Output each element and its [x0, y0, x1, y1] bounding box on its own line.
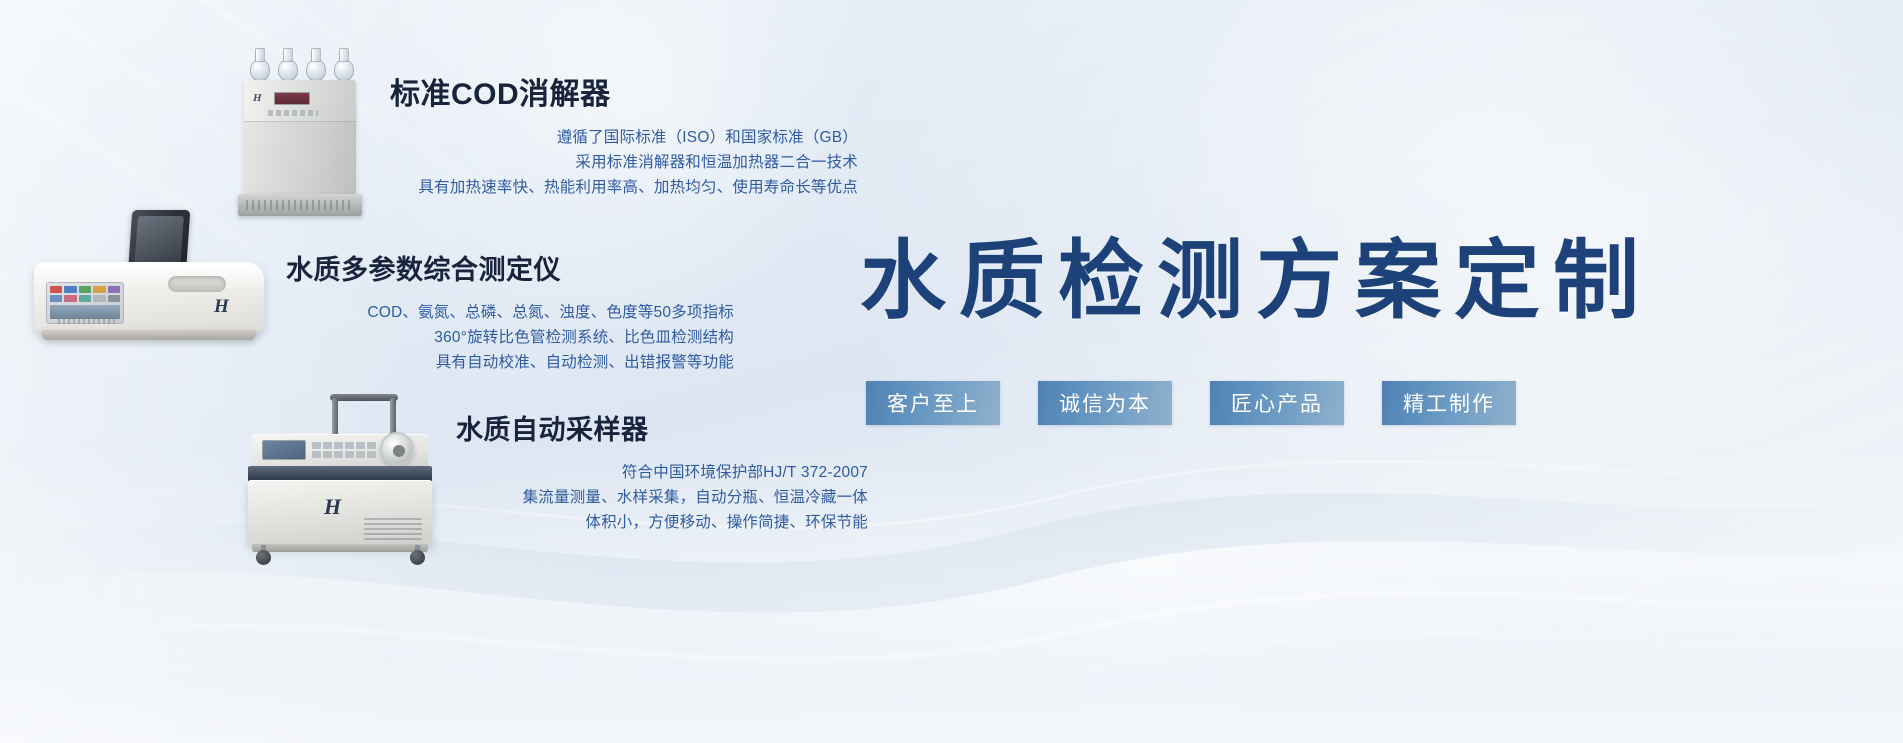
- auto-water-sampler-photo: H: [238, 392, 438, 572]
- product-block-auto-water-sampler: H 水质自动采样器 符合中国环境保护部HJ/T 372-2007 集流量测量、水…: [238, 392, 868, 572]
- brand-mark: H: [253, 92, 262, 104]
- product-desc-line: 集流量测量、水样采集，自动分瓶、恒温冷藏一体: [456, 485, 868, 510]
- product-text-multi-parameter-analyzer: 水质多参数综合测定仪 COD、氨氮、总磷、总氮、浊度、色度等50多项指标 360…: [286, 210, 734, 375]
- analyzer-vent: [58, 318, 118, 324]
- promo-banner: H 标准COD消解器 遵循了国际标准（ISO）和国家标准（GB） 采用标准消解器…: [0, 0, 1903, 743]
- product-desc-line: 360°旋转比色管检测系统、比色皿检测结构: [286, 325, 734, 350]
- caster-wheel-icon: [410, 550, 425, 565]
- product-desc-line: 体积小，方便移动、操作简捷、环保节能: [456, 510, 868, 535]
- product-description: COD、氨氮、总磷、总氮、浊度、色度等50多项指标 360°旋转比色管检测系统、…: [286, 300, 734, 375]
- product-text-cod-digester: 标准COD消解器 遵循了国际标准（ISO）和国家标准（GB） 采用标准消解器和恒…: [390, 44, 858, 200]
- sampler-handle: [330, 394, 398, 401]
- brand-mark: H: [324, 494, 341, 520]
- product-title: 水质多参数综合测定仪: [286, 256, 734, 286]
- product-desc-line: 符合中国环境保护部HJ/T 372-2007: [456, 460, 868, 485]
- product-desc-line: 遵循了国际标准（ISO）和国家标准（GB）: [390, 125, 858, 150]
- product-block-cod-digester: H 标准COD消解器 遵循了国际标准（ISO）和国家标准（GB） 采用标准消解器…: [228, 44, 858, 216]
- status-badge-fine-manufacturing[interactable]: 精工制作: [1382, 381, 1516, 425]
- product-desc-line: 具有加热速率快、热能利用率高、加热均匀、使用寿命长等优点: [390, 175, 858, 200]
- page-title: 水质检测方案定制: [860, 238, 1860, 324]
- product-title: 标准COD消解器: [390, 78, 858, 111]
- caster-wheel-icon: [256, 550, 271, 565]
- product-desc-line: COD、氨氮、总磷、总氮、浊度、色度等50多项指标: [286, 300, 734, 325]
- sampler-vent-grill: [364, 518, 422, 540]
- sampler-display: [262, 440, 306, 460]
- headline-block: 水质检测方案定制: [860, 238, 1860, 324]
- product-description: 遵循了国际标准（ISO）和国家标准（GB） 采用标准消解器和恒温加热器二合一技术…: [390, 125, 858, 200]
- sampler-peristaltic-pump: [380, 432, 414, 466]
- analyzer-sample-well: [168, 276, 226, 292]
- badge-row: 客户至上 诚信为本 匠心产品 精工制作: [866, 381, 1516, 425]
- product-block-multi-parameter-analyzer: H 水质多参数综合测定仪 COD、氨氮、总磷、总氮、浊度、色度等50多项指标 3…: [18, 210, 734, 375]
- cod-digester-photo: H: [228, 44, 376, 216]
- product-title: 水质自动采样器: [456, 416, 868, 446]
- product-desc-line: 采用标准消解器和恒温加热器二合一技术: [390, 150, 858, 175]
- brand-mark: H: [214, 296, 229, 318]
- digester-keypad: [268, 110, 318, 116]
- product-text-auto-water-sampler: 水质自动采样器 符合中国环境保护部HJ/T 372-2007 集流量测量、水样采…: [456, 392, 868, 535]
- sampler-keypad: [312, 442, 376, 458]
- multi-parameter-analyzer-photo: H: [18, 210, 280, 348]
- status-badge-integrity[interactable]: 诚信为本: [1038, 381, 1172, 425]
- digester-display: [274, 92, 310, 105]
- product-desc-line: 具有自动校准、自动检测、出错报警等功能: [286, 350, 734, 375]
- sampler-base: [252, 544, 428, 552]
- status-badge-customer-first[interactable]: 客户至上: [866, 381, 1000, 425]
- product-description: 符合中国环境保护部HJ/T 372-2007 集流量测量、水样采集，自动分瓶、恒…: [456, 460, 868, 535]
- status-badge-craftsmanship[interactable]: 匠心产品: [1210, 381, 1344, 425]
- analyzer-base: [42, 330, 256, 340]
- analyzer-keypad: [50, 286, 120, 302]
- analyzer-display: [50, 305, 120, 319]
- sampler-handle-post: [332, 398, 338, 438]
- digester-vent: [246, 200, 354, 210]
